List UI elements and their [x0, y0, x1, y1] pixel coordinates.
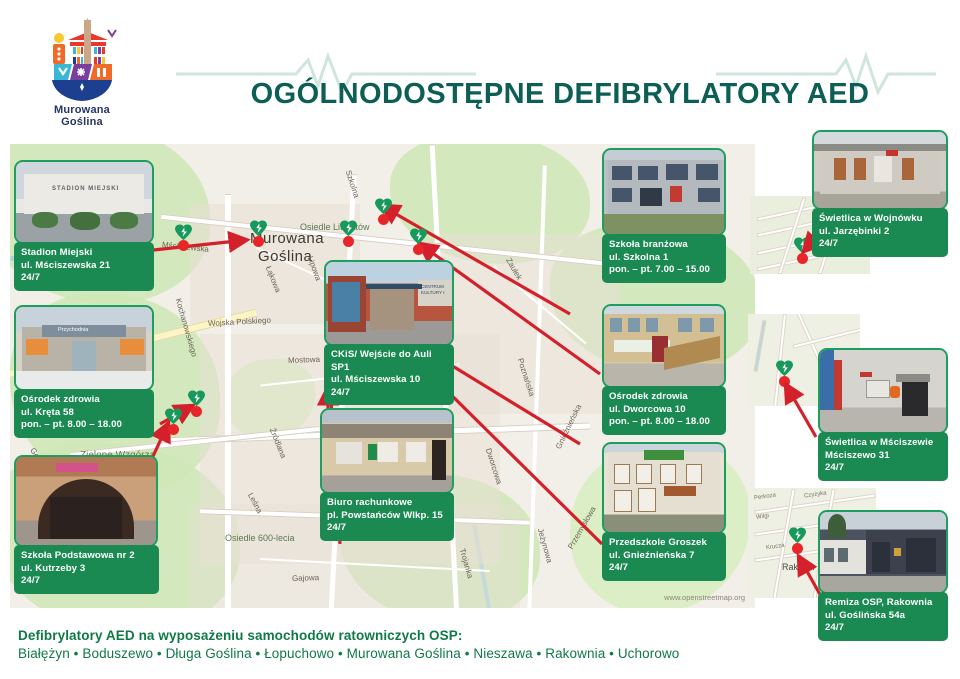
location-card-osrodek-zdrowia-dworcowa[interactable]: Ośrodek zdrowia ul. Dworcowa 10 pon. – p…: [602, 304, 726, 432]
location-hours: 24/7: [331, 387, 447, 400]
location-hours: pon. – pt. 8.00 – 18.00: [21, 419, 147, 432]
murowana-goslina-coat-of-arms-icon: Murowana Goślina: [36, 18, 128, 136]
location-address: ul. Mściszewska 10: [331, 374, 447, 387]
location-hours: pon. – pt. 7.00 – 15.00: [609, 264, 719, 277]
location-label: Świetlica w Wojnówku ul. Jarzębinki 2 24…: [812, 208, 948, 257]
location-photo: [602, 148, 726, 236]
location-hours: pon. – pt. 8.00 – 18.00: [609, 416, 719, 429]
aed-heart-bolt-marker[interactable]: [375, 198, 392, 215]
location-address: ul. Goślińska 54a: [825, 610, 941, 623]
location-card-stadion-miejski[interactable]: STADION MIEJSKI Stadion Miejski ul. Mści…: [14, 160, 154, 285]
location-card-ckis-aula-sp1[interactable]: CENTRUM KULTURY I CKiS/ Wejście do Auli …: [324, 260, 454, 390]
infographic-root: Murowana Goślina OGÓLNODOSTĘPNE DEFIBRYL…: [0, 0, 960, 679]
location-card-szkola-branzowa[interactable]: Szkoła branżowa ul. Szkolna 1 pon. – pt.…: [602, 148, 726, 276]
location-dot: [378, 214, 389, 225]
location-card-swietlica-wojnowko[interactable]: Świetlica w Wojnówku ul. Jarzębinki 2 24…: [812, 130, 948, 248]
photo-caption: STADION MIEJSKI: [52, 186, 119, 192]
location-name: Ośrodek zdrowia: [21, 394, 147, 407]
location-label: Przedszkole Groszek ul. Gnieźnieńska 7 2…: [602, 532, 726, 581]
aed-heart-bolt-marker[interactable]: [165, 408, 182, 425]
location-dot: [253, 236, 264, 247]
location-address: ul. Szkolna 1: [609, 252, 719, 265]
location-address: Mściszewo 31: [825, 450, 941, 463]
location-label: Szkoła branżowa ul. Szkolna 1 pon. – pt.…: [602, 234, 726, 283]
location-card-swietlica-msciszewo[interactable]: Świetlica w Mściszewie Mściszewo 31 24/7: [818, 348, 948, 473]
location-name: Szkoła branżowa: [609, 239, 719, 252]
location-hours: 24/7: [825, 462, 941, 475]
logo-line1: Murowana: [54, 104, 110, 116]
location-photo: Przychodnia: [14, 305, 154, 391]
location-address: ul. Dworcowa 10: [609, 404, 719, 417]
location-dot: [178, 240, 189, 251]
location-name: Przedszkole Groszek: [609, 537, 719, 550]
photo-caption: Przychodnia: [58, 327, 88, 333]
location-card-przedszkole-groszek[interactable]: Przedszkole Groszek ul. Gnieźnieńska 7 2…: [602, 442, 726, 577]
location-hours: 24/7: [21, 272, 147, 285]
location-address: pl. Powstańców Wlkp. 15: [327, 510, 447, 523]
location-name: Ośrodek zdrowia: [609, 391, 719, 404]
location-label: Szkoła Podstawowa nr 2 ul. Kutrzeby 3 24…: [14, 545, 159, 594]
footer-villages: Białężyn • Boduszewo • Długa Goślina • Ł…: [18, 646, 938, 661]
location-photo: [14, 455, 158, 547]
location-name: Świetlica w Wojnówku: [819, 213, 941, 226]
header: Murowana Goślina OGÓLNODOSTĘPNE DEFIBRYL…: [0, 0, 960, 140]
location-photo: [812, 130, 948, 210]
photo-caption: CENTRUM KULTURY I: [421, 284, 452, 295]
location-address: ul. Gnieźnieńska 7: [609, 550, 719, 563]
aed-heart-bolt-marker[interactable]: [175, 224, 192, 241]
location-name: Remiza OSP, Rakownia: [825, 597, 941, 610]
logo-line2: Goślina: [61, 116, 103, 128]
location-card-biuro-rachunkowe[interactable]: Biuro rachunkowe pl. Powstańców Wlkp. 15…: [320, 408, 454, 538]
location-hours: 24/7: [609, 562, 719, 575]
location-address: ul. Kutrzeby 3: [21, 563, 152, 576]
location-name: Stadion Miejski: [21, 247, 147, 260]
location-hours: 24/7: [21, 575, 152, 588]
location-photo: [818, 510, 948, 594]
footer: Defibrylatory AED na wyposażeniu samocho…: [18, 628, 938, 661]
location-photo: [818, 348, 948, 434]
location-name: Biuro rachunkowe: [327, 497, 447, 510]
location-dot: [191, 406, 202, 417]
location-name: Szkoła Podstawowa nr 2: [21, 550, 152, 563]
location-card-osrodek-zdrowia-kreta[interactable]: Przychodnia Ośrodek zdrowia ul. Kręta 58…: [14, 305, 154, 435]
location-label: Ośrodek zdrowia ul. Kręta 58 pon. – pt. …: [14, 389, 154, 438]
aed-heart-bolt-marker[interactable]: [340, 220, 357, 237]
aed-heart-bolt-marker[interactable]: [410, 228, 427, 245]
location-dot: [413, 244, 424, 255]
footer-heading: Defibrylatory AED na wyposażeniu samocho…: [18, 628, 938, 643]
location-label: Stadion Miejski ul. Mściszewska 21 24/7: [14, 242, 154, 291]
location-dot: [343, 236, 354, 247]
location-photo: STADION MIEJSKI: [14, 160, 154, 244]
location-card-szkola-podstawowa-nr-2[interactable]: Szkoła Podstawowa nr 2 ul. Kutrzeby 3 24…: [14, 455, 159, 595]
location-address: ul. Jarzębinki 2: [819, 226, 941, 239]
location-card-remiza-osp-rakownia[interactable]: Remiza OSP, Rakownia ul. Goślińska 54a 2…: [818, 510, 948, 638]
location-dot: [168, 424, 179, 435]
location-photo: [602, 304, 726, 388]
location-label: Ośrodek zdrowia ul. Dworcowa 10 pon. – p…: [602, 386, 726, 435]
aed-heart-bolt-marker[interactable]: [250, 220, 267, 237]
location-address: ul. Mściszewska 21: [21, 260, 147, 273]
location-photo: CENTRUM KULTURY I: [324, 260, 454, 346]
location-name: Świetlica w Mściszewie: [825, 437, 941, 450]
location-label: Biuro rachunkowe pl. Powstańców Wlkp. 15…: [320, 492, 454, 541]
location-photo: [602, 442, 726, 534]
location-name: CKiS/ Wejście do Auli SP1: [331, 349, 447, 374]
aed-heart-bolt-marker[interactable]: [188, 390, 205, 407]
location-hours: 24/7: [819, 238, 941, 251]
location-photo: [320, 408, 454, 494]
page-title: OGÓLNODOSTĘPNE DEFIBRYLATORY AED: [190, 78, 930, 111]
logo-wordmark: Murowana Goślina: [36, 104, 128, 128]
location-label: CKiS/ Wejście do Auli SP1 ul. Mściszewsk…: [324, 344, 454, 405]
location-address: ul. Kręta 58: [21, 407, 147, 420]
location-hours: 24/7: [327, 522, 447, 535]
location-label: Świetlica w Mściszewie Mściszewo 31 24/7: [818, 432, 948, 481]
